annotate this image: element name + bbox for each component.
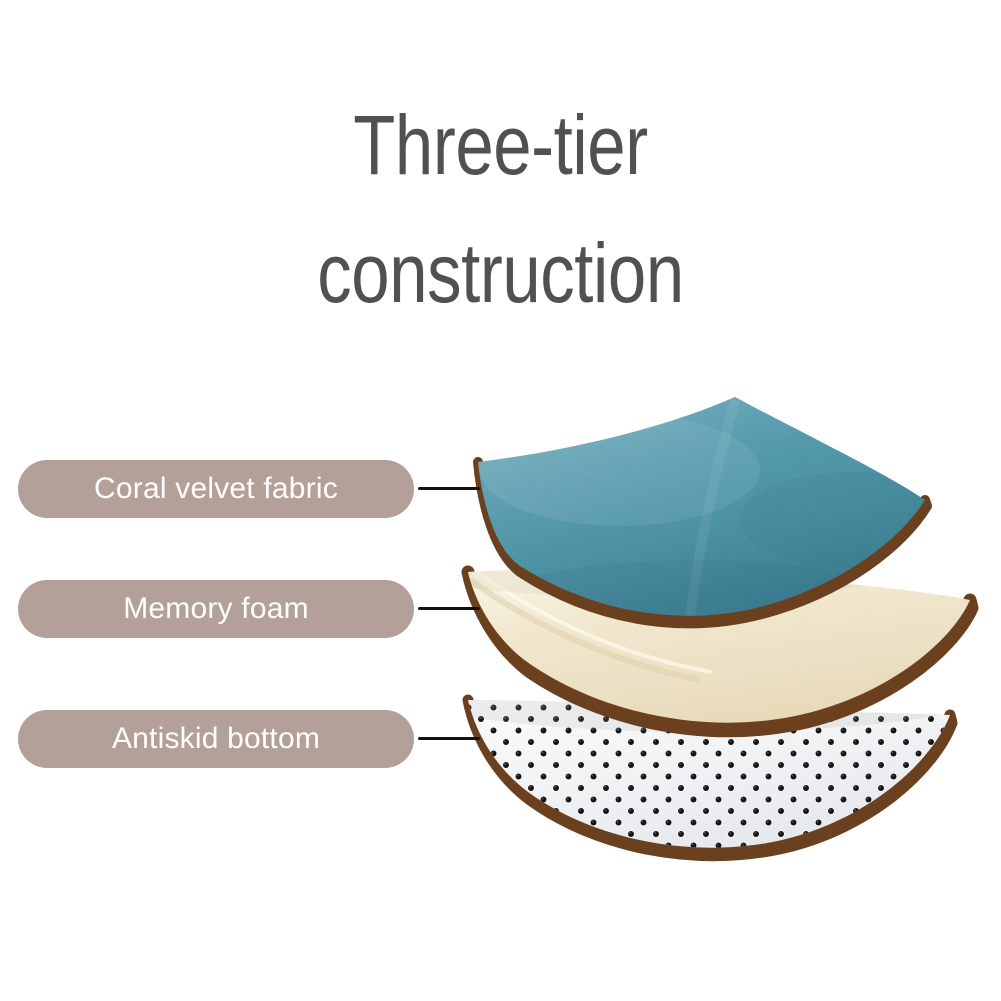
title-line-2: construction (90, 210, 911, 338)
coral-velvet-fabric-layer (478, 397, 960, 640)
title-line-1: Three-tier (90, 82, 911, 210)
label-coral-velvet-fabric[interactable]: Coral velvet fabric (18, 460, 414, 518)
page-title: Three-tier construction (90, 82, 911, 337)
antiskid-bottom-layer (400, 648, 1000, 856)
label-antiskid-bottom-text: Antiskid bottom (112, 722, 320, 756)
leader-line-coral-velvet-fabric (418, 487, 480, 490)
leader-line-antiskid-bottom (418, 737, 480, 740)
memory-foam-layer (380, 522, 972, 731)
label-antiskid-bottom[interactable]: Antiskid bottom (18, 710, 414, 768)
infographic-canvas: Three-tier construction (0, 0, 1001, 1001)
label-memory-foam[interactable]: Memory foam (18, 580, 414, 638)
label-memory-foam-text: Memory foam (123, 592, 309, 626)
label-coral-velvet-fabric-text: Coral velvet fabric (94, 472, 338, 506)
leader-line-memory-foam (418, 607, 480, 610)
